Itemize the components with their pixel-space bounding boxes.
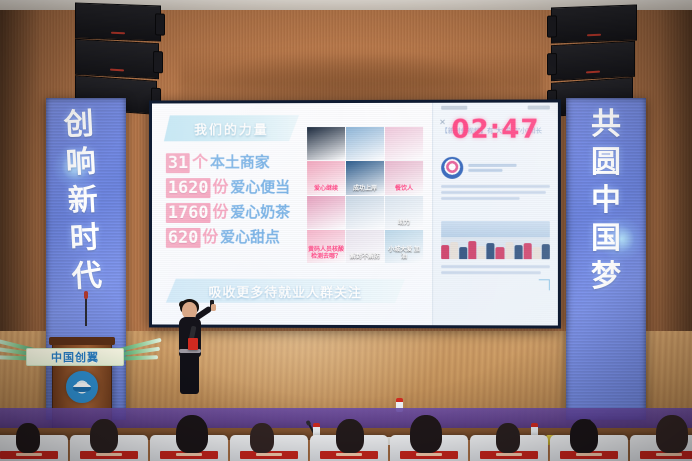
stat-label: 爱心奶茶 [230, 203, 290, 223]
main-led-screen: 我们的力量 31 个 本土商家 1620 份 爱心便当 1760 份 爱心奶茶 [149, 99, 561, 328]
stat-row: 620 份 爱心甜点 [166, 228, 290, 248]
collage-thumb: 解封不解防 [346, 230, 384, 263]
account-name [468, 164, 516, 172]
countdown-timer: 02:47 [433, 115, 558, 145]
dove-globe-emblem-icon [66, 371, 98, 403]
right-led-banner: 共 圆 中 国 梦 [566, 98, 646, 420]
collage-caption: 餐饮人 [386, 185, 422, 192]
stat-unit: 份 [212, 203, 228, 223]
stat-number: 1760 [166, 203, 211, 223]
banner-char: 圆 [591, 148, 621, 178]
banner-char: 国 [591, 224, 621, 254]
audience-member [656, 415, 688, 453]
right-banner-text: 共 圆 中 国 梦 [566, 110, 646, 410]
stat-label: 爱心甜点 [220, 228, 280, 248]
banner-char: 梦 [591, 262, 621, 292]
article-paragraph [441, 185, 550, 200]
account-avatar [441, 157, 463, 179]
quote-corner-icon [539, 279, 550, 290]
stage-wing-decoration: 中国创翼 [2, 338, 150, 374]
article-paragraph-2 [441, 265, 550, 274]
collage-caption: 爱心继续 [308, 186, 344, 193]
banner-char: 代 [71, 261, 103, 293]
audience-member [336, 419, 364, 453]
line-array-speaker-left [75, 4, 161, 112]
audience-seat-row [0, 427, 692, 461]
audience-member [410, 415, 442, 453]
collage-thumb [385, 127, 423, 160]
stat-unit: 份 [202, 228, 218, 248]
collage-thumb [346, 127, 384, 160]
stat-row: 31 个 本土商家 [166, 153, 290, 173]
collage-thumb [307, 196, 345, 229]
audience-front-tables [0, 408, 692, 461]
statistics-list: 31 个 本土商家 1620 份 爱心便当 1760 份 爱心奶茶 620 份 [166, 153, 290, 248]
collage-thumb: 助力 [385, 195, 423, 228]
collage-thumb: 黄码人员核酸检测去哪？ [307, 230, 345, 263]
floor-mic-stand [85, 296, 87, 326]
collage-thumb: 爱心继续 [307, 161, 345, 194]
audience-member [176, 415, 208, 453]
slide-footer-banner: 吸收更多待就业人群关注 [166, 279, 405, 303]
collage-thumb: 成功上岸 [346, 161, 384, 194]
collage-thumb: 餐饮人 [385, 161, 423, 194]
stat-label: 本土商家 [210, 153, 270, 173]
microphone-red-flag [188, 338, 198, 350]
collage-caption: 成功上岸 [347, 185, 383, 192]
presenter-legs [180, 354, 199, 394]
article-date [441, 149, 443, 155]
presenter-hand [211, 304, 216, 311]
audience-member [496, 423, 520, 453]
banner-char: 创 [63, 109, 95, 141]
account-row[interactable] [441, 157, 516, 179]
stat-row: 1760 份 爱心奶茶 [166, 203, 290, 223]
collage-caption: 黄码人员核酸检测去哪？ [308, 247, 344, 261]
audience-member [90, 419, 118, 453]
collage-thumb: 小城大爱 加油 [385, 230, 423, 263]
slide-footer-text: 吸收更多待就业人群关注 [209, 281, 362, 300]
conference-hall-photo: 创 响 新 时 代 共 圆 中 国 梦 我们的力量 31 个 [0, 0, 692, 461]
wall-shadow [180, 45, 542, 105]
banner-char: 新 [67, 185, 99, 217]
banner-char: 共 [591, 110, 621, 140]
banner-char: 响 [65, 147, 97, 179]
collage-thumb [307, 127, 345, 160]
slide-header-text: 我们的力量 [194, 119, 269, 138]
stat-number: 1620 [166, 178, 211, 198]
audience-member [16, 423, 40, 453]
presenter-speaker [170, 302, 214, 394]
collage-caption: 小城大爱 加油 [386, 247, 422, 261]
stat-number: 31 [166, 153, 190, 173]
stat-row: 1620 份 爱心便当 [166, 178, 290, 198]
podium-emblem-text: 中国创翼 [26, 348, 124, 366]
collage-caption: 助力 [386, 220, 422, 227]
banner-char: 时 [69, 223, 101, 255]
article-photo [441, 221, 550, 259]
stat-unit: 个 [192, 153, 208, 173]
phone-status-bar [433, 105, 558, 113]
signal-icon [441, 106, 467, 110]
presentation-slide: 我们的力量 31 个 本土商家 1620 份 爱心便当 1760 份 爱心奶茶 [152, 103, 433, 325]
battery-icon [528, 106, 550, 110]
audience-member [570, 419, 598, 453]
stat-number: 620 [166, 228, 200, 248]
stat-unit: 份 [212, 178, 228, 198]
social-post-collage: 爱心继续成功上岸餐饮人助力黄码人员核酸检测去哪？解封不解防小城大爱 加油 [307, 127, 423, 263]
phone-article-panel: ✕ 【新时代视频】有"大"爱的"小"团长 02:47 [432, 102, 558, 325]
collage-caption: 解封不解防 [347, 254, 383, 261]
stat-label: 爱心便当 [230, 178, 290, 198]
slide-header-banner: 我们的力量 [164, 115, 299, 141]
banner-char: 中 [591, 186, 621, 216]
audience-member [250, 423, 274, 453]
collage-thumb [346, 195, 384, 228]
